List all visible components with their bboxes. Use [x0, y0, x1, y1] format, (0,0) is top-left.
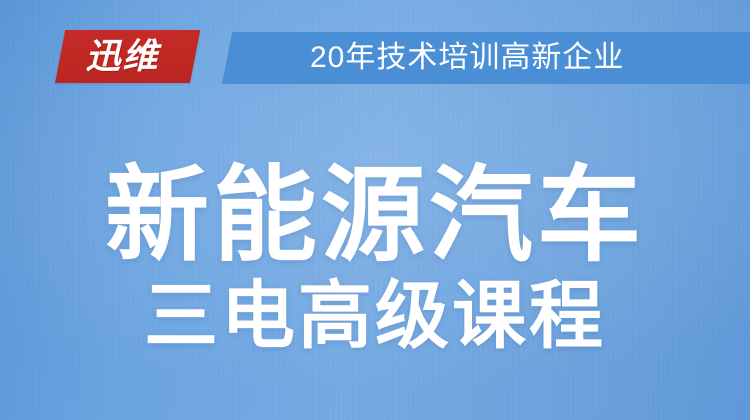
brand-logo-text: 迅维 [55, 30, 190, 83]
poster-header: 20年技术培训高新企业 迅维 [0, 0, 750, 110]
promo-poster: 20年技术培训高新企业 迅维 新能源汽车 三电高级课程 [0, 0, 750, 420]
page-subtitle: 三电高级课程 [0, 274, 750, 358]
headline-block: 新能源汽车 三电高级课程 [0, 160, 750, 358]
page-title: 新能源汽车 [0, 160, 750, 272]
tagline-text: 20年技术培训高新企业 [310, 33, 730, 83]
